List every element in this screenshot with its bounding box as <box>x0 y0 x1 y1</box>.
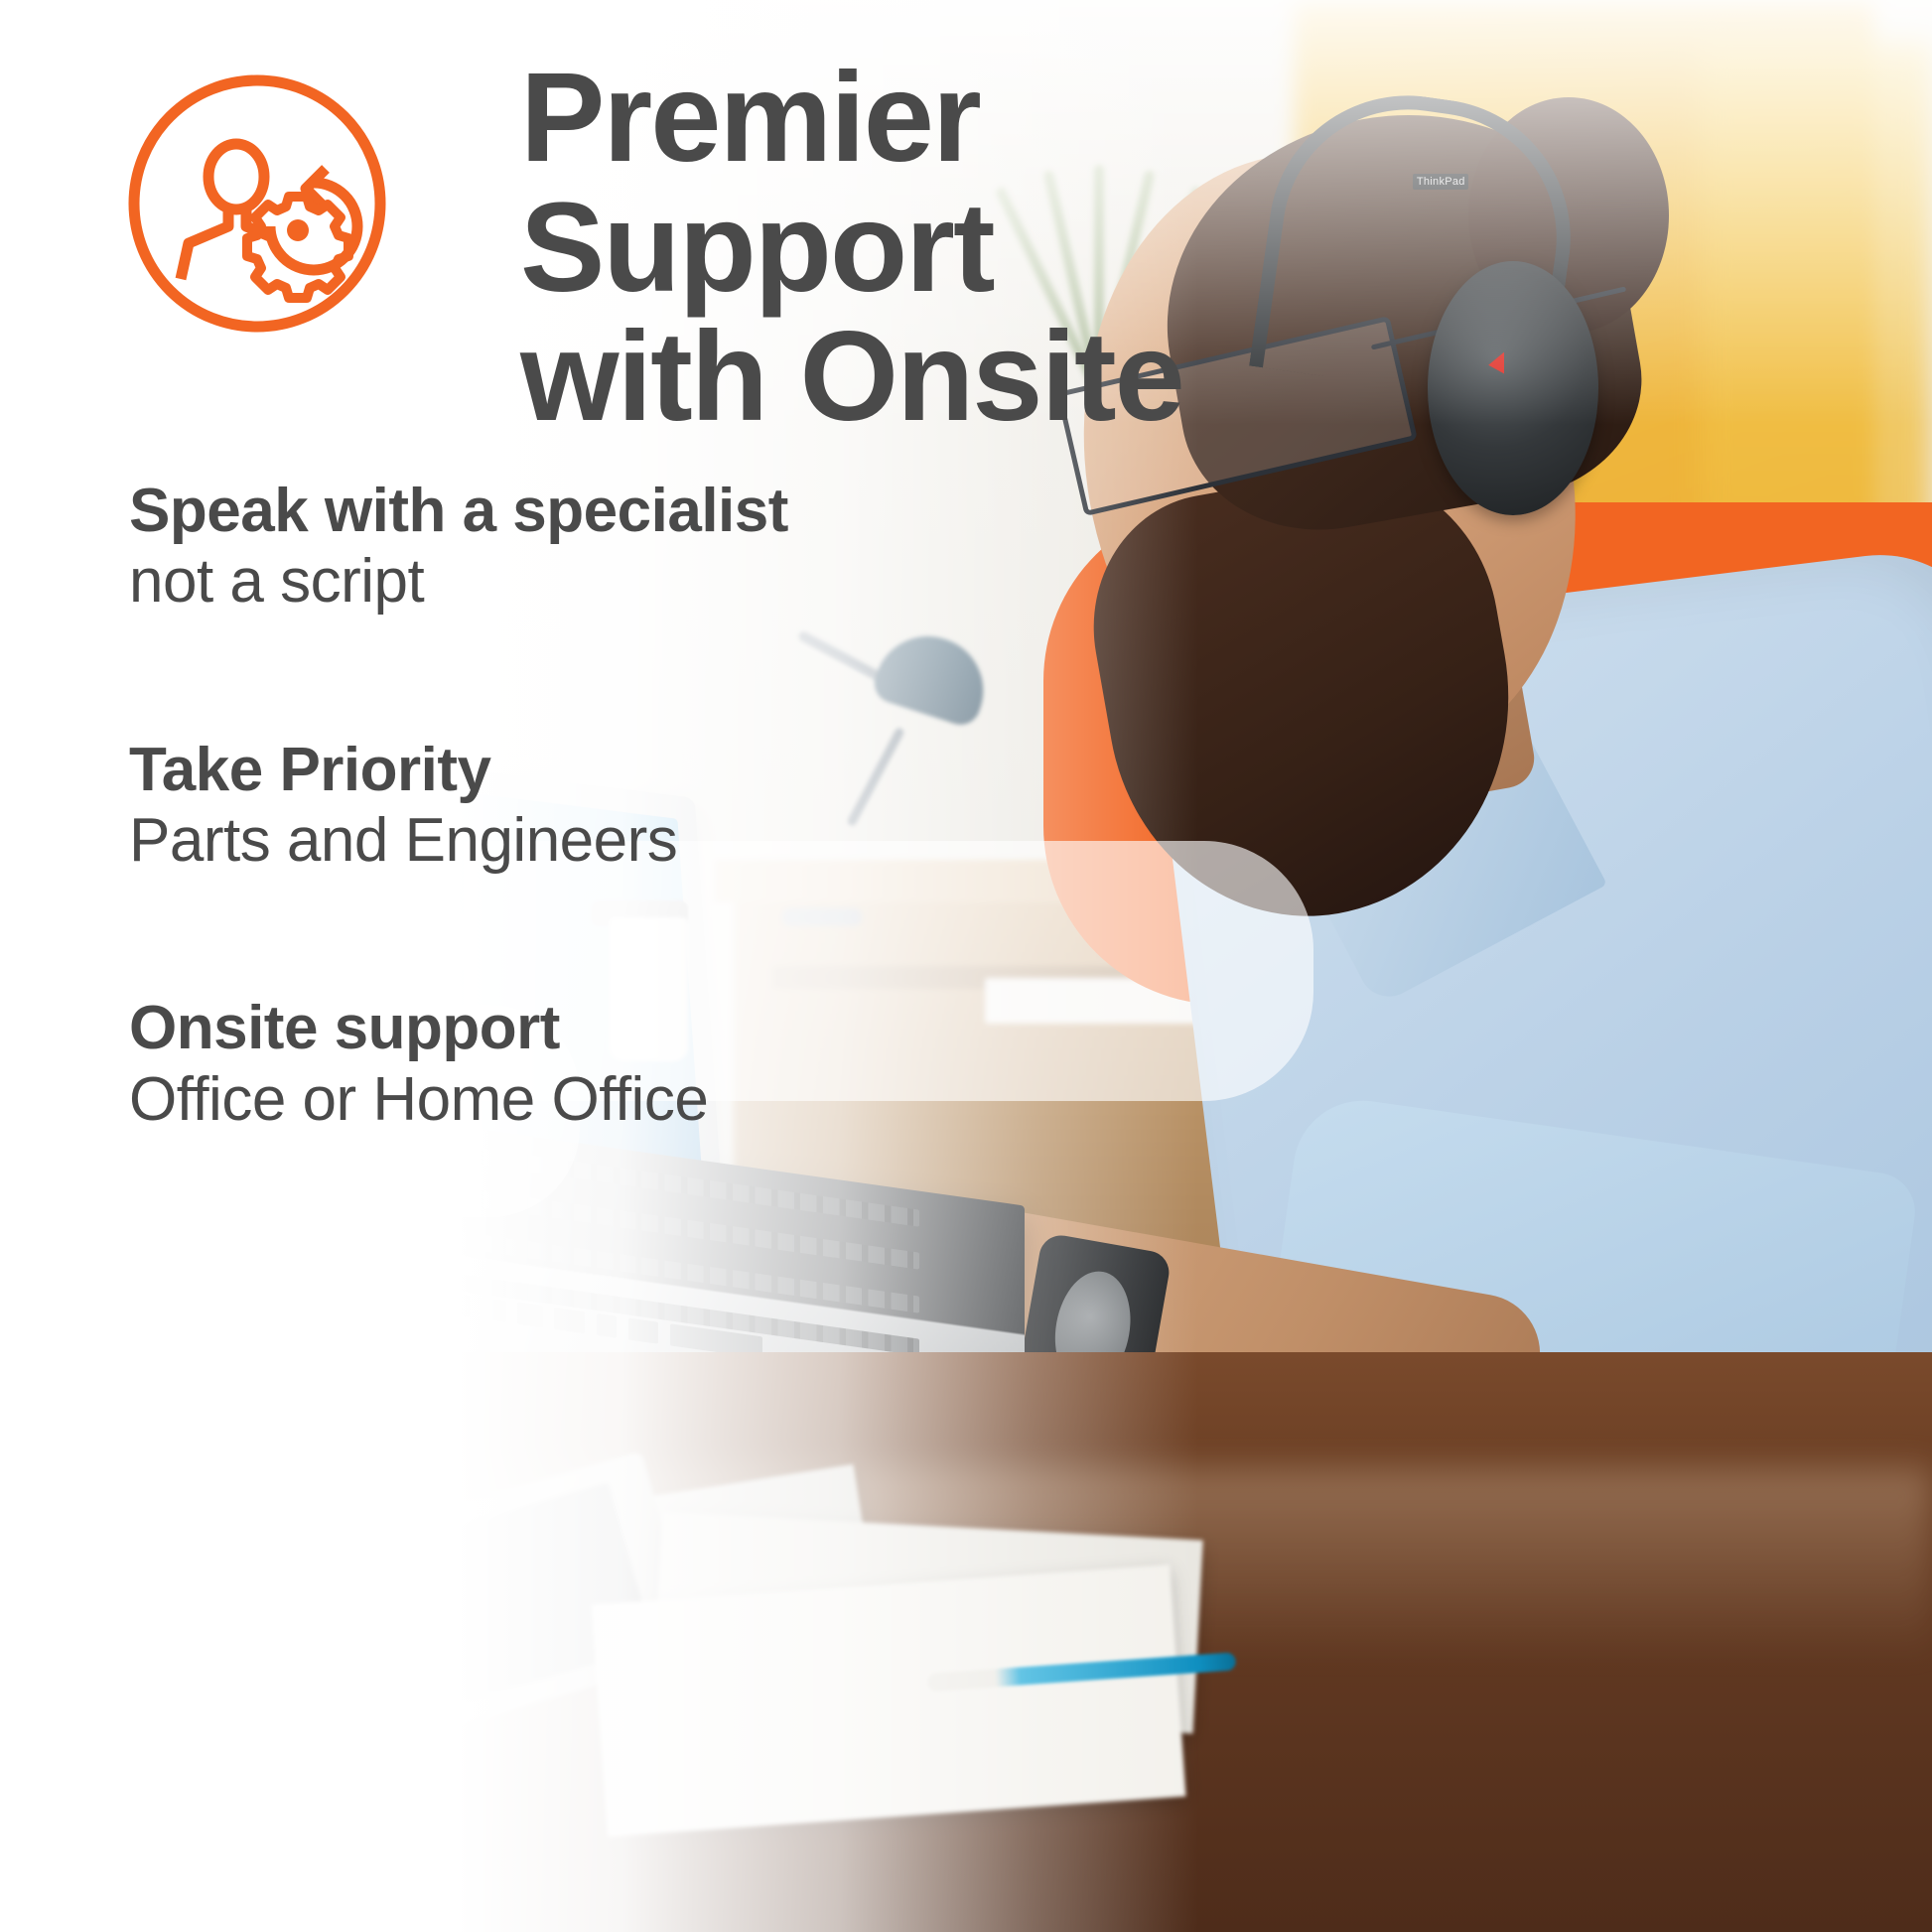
benefit-headline: Speak with a specialist <box>129 477 1023 545</box>
benefit-item-2: Take Priority Parts and Engineers <box>129 736 1023 878</box>
page-title-line1: Premier Support <box>520 54 1394 313</box>
benefit-subtext: not a script <box>129 545 1023 618</box>
benefit-subtext: Office or Home Office <box>129 1063 1023 1136</box>
content-layer: Premier Support with Onsite Speak with a… <box>0 0 1932 1932</box>
page-title-line2: with Onsite <box>520 313 1394 443</box>
benefit-headline: Take Priority <box>129 736 1023 804</box>
premier-support-person-gear-icon <box>125 71 389 336</box>
benefit-item-3: Onsite support Office or Home Office <box>129 994 1023 1136</box>
benefits-list: Speak with a specialist not a script Tak… <box>129 477 1023 1253</box>
benefit-subtext: Parts and Engineers <box>129 804 1023 877</box>
benefit-headline: Onsite support <box>129 994 1023 1062</box>
page-title: Premier Support with Onsite <box>520 54 1394 443</box>
benefit-item-1: Speak with a specialist not a script <box>129 477 1023 619</box>
